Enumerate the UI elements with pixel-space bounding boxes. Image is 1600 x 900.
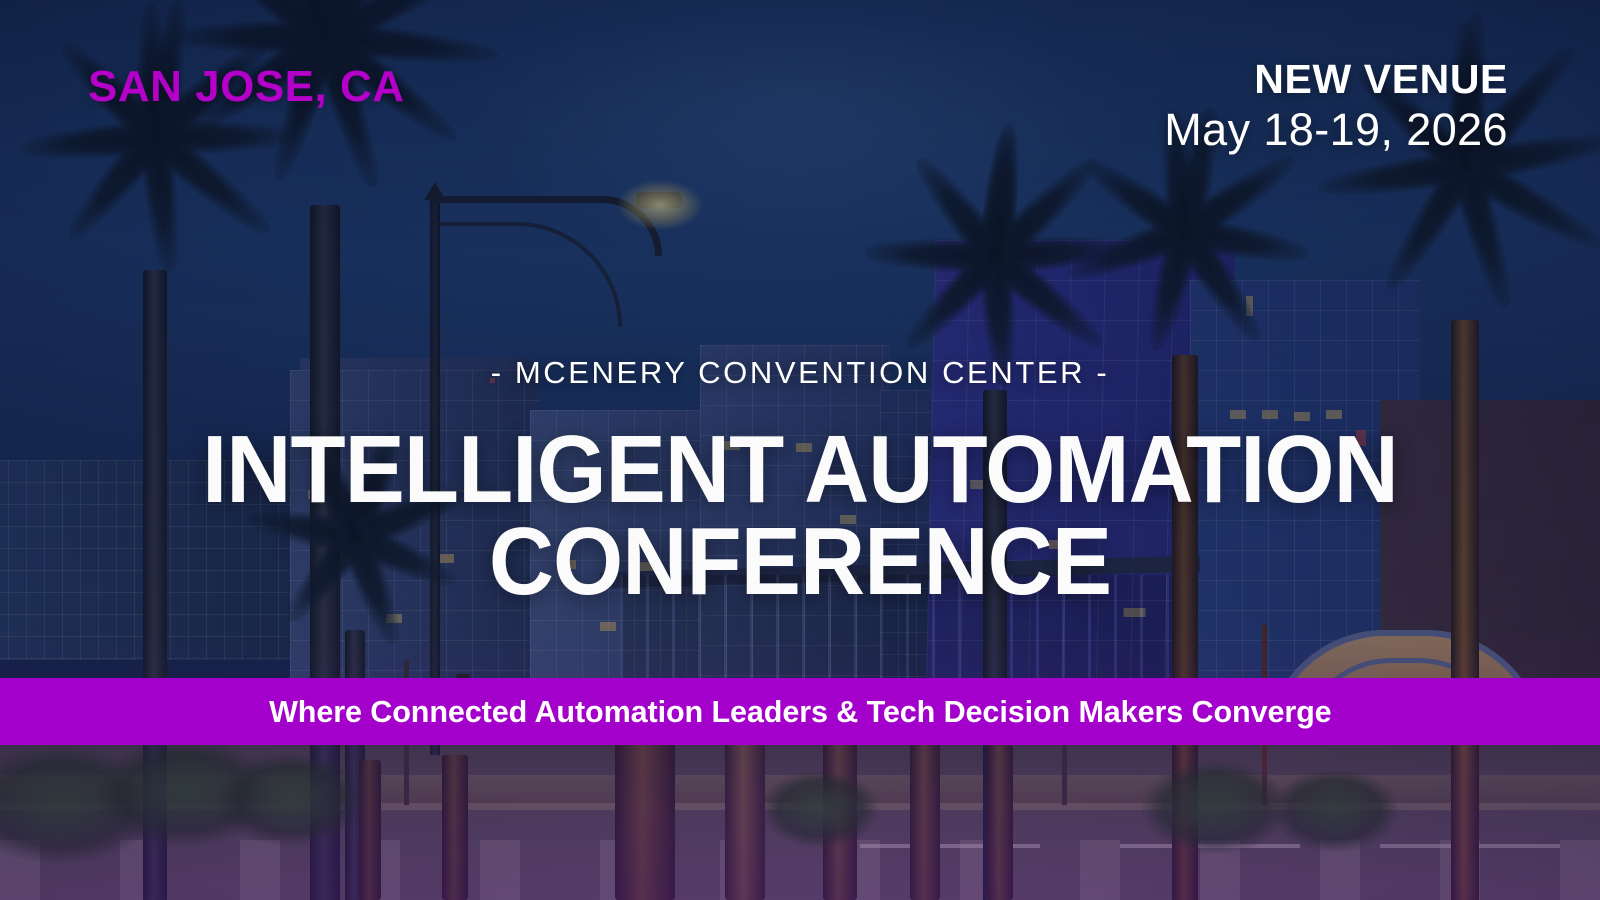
event-banner: SAN JOSE, CA NEW VENUE May 18-19, 2026 -… xyxy=(0,0,1600,900)
page-title: INTELLIGENT AUTOMATION CONFERENCE xyxy=(48,424,1552,608)
title-line-1: INTELLIGENT AUTOMATION xyxy=(48,424,1552,516)
venue-date-block: NEW VENUE May 18-19, 2026 xyxy=(1164,58,1508,155)
tagline-text: Where Connected Automation Leaders & Tec… xyxy=(269,694,1331,730)
tagline-ribbon: Where Connected Automation Leaders & Tec… xyxy=(0,678,1600,745)
banner-content: SAN JOSE, CA NEW VENUE May 18-19, 2026 -… xyxy=(0,0,1600,900)
city-location-label: SAN JOSE, CA xyxy=(88,62,405,112)
title-line-2: CONFERENCE xyxy=(48,516,1552,608)
new-venue-badge: NEW VENUE xyxy=(1164,58,1508,101)
event-dates: May 18-19, 2026 xyxy=(1164,105,1508,155)
venue-name-label: - MCENERY CONVENTION CENTER - xyxy=(0,355,1600,391)
